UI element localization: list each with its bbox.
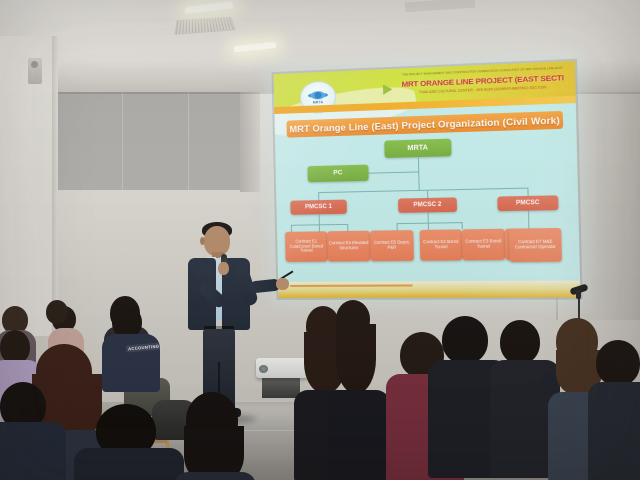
screen-frame [271, 59, 582, 300]
presenter-hand [276, 278, 289, 290]
microphone-clip [576, 290, 581, 299]
left-wall-column-edge [52, 36, 58, 336]
presenter-hand [218, 262, 229, 275]
projection-screen: MRTA THE PROJECT MANAGEMENT AND CONSTRUC… [273, 61, 580, 298]
projector-lens-icon [259, 365, 268, 373]
presentation-photo: MRTA THE PROJECT MANAGEMENT AND CONSTRUC… [0, 0, 640, 480]
wall-speaker [28, 58, 42, 84]
projector [256, 358, 308, 378]
